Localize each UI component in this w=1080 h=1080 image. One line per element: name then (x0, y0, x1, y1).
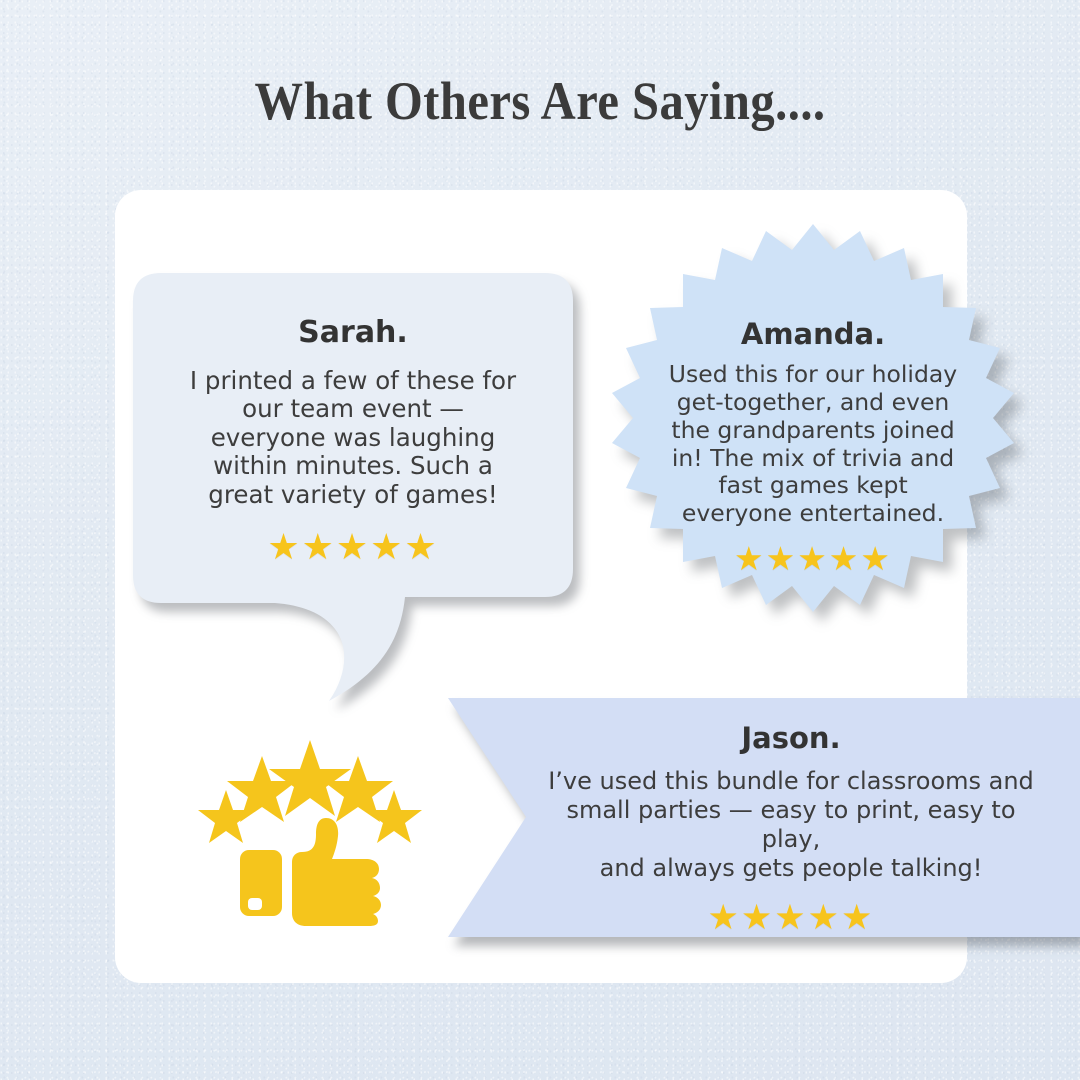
testimonial-sarah-name: Sarah. (153, 316, 553, 351)
testimonial-sarah-content: Sarah. I printed a few of these for our … (153, 316, 553, 566)
testimonial-amanda: Amanda. Used this for our holiday get-to… (608, 224, 1018, 628)
testimonial-jason-name: Jason. (536, 722, 1046, 755)
testimonial-amanda-name: Amanda. (640, 318, 986, 351)
testimonial-jason: Jason. I’ve used this bundle for classro… (448, 698, 1080, 946)
page-title: What Others Are Saying.... (54, 70, 1026, 132)
testimonial-jason-rating: ★★★★★ (536, 901, 1046, 936)
testimonial-sarah: Sarah. I printed a few of these for our … (133, 273, 573, 703)
testimonial-jason-content: Jason. I’ve used this bundle for classro… (536, 722, 1046, 936)
testimonial-amanda-rating: ★★★★★ (640, 542, 986, 575)
thumbs-up-five-stars-icon (196, 726, 424, 926)
testimonial-sarah-quote: I printed a few of these for our team ev… (153, 367, 553, 510)
testimonial-jason-quote: I’ve used this bundle for classrooms and… (536, 767, 1046, 882)
testimonial-amanda-quote: Used this for our holiday get-together, … (640, 361, 986, 527)
testimonial-amanda-content: Amanda. Used this for our holiday get-to… (640, 318, 986, 575)
testimonial-sarah-rating: ★★★★★ (153, 530, 553, 566)
